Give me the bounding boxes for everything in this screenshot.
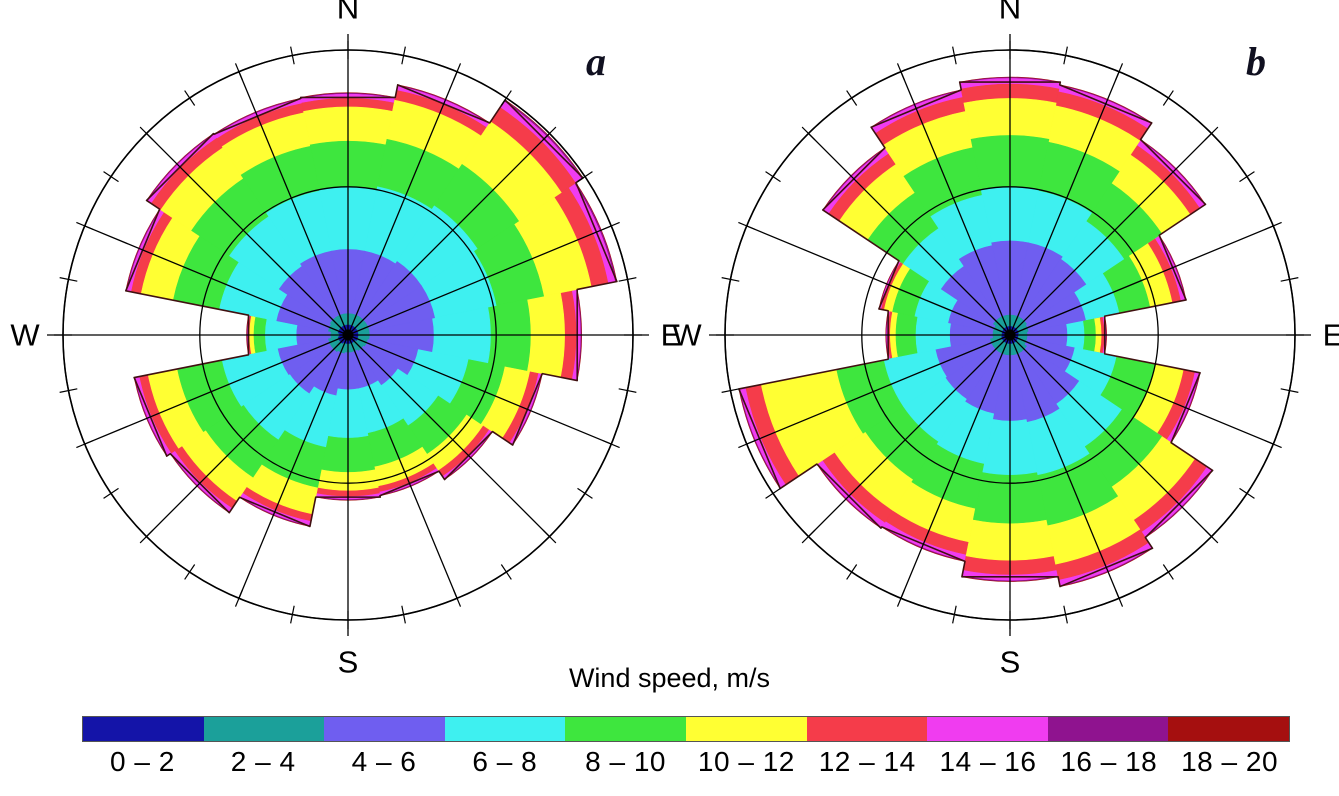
colorbar-segment-label: 8 – 10	[565, 746, 686, 780]
colorbar-segment-label: 16 – 18	[1048, 746, 1169, 780]
colorbar-swatches	[82, 716, 1290, 742]
colorbar-segment	[445, 717, 566, 741]
panel-label-b: b	[1246, 42, 1266, 82]
colorbar-segment-label: 18 – 20	[1169, 746, 1290, 780]
colorbar-segment-label: 14 – 16	[928, 746, 1049, 780]
colorbar-segment	[1168, 717, 1289, 741]
colorbar-segment	[83, 717, 204, 741]
polar-origin	[343, 330, 354, 341]
colorbar-segment-label: 0 – 2	[82, 746, 203, 780]
panel-label-a: a	[586, 42, 606, 82]
colorbar-segment-label: 6 – 8	[444, 746, 565, 780]
colorbar-segment	[1048, 717, 1169, 741]
colorbar-segment-label: 10 – 12	[686, 746, 807, 780]
colorbar-title: Wind speed, m/s	[0, 665, 1339, 692]
colorbar-tick-labels: 0 – 22 – 44 – 66 – 88 – 1010 – 1212 – 14…	[82, 746, 1290, 780]
polar-origin	[1005, 330, 1016, 341]
compass-label-north-a: N	[337, 0, 359, 24]
colorbar-segment	[686, 717, 807, 741]
colorbar-segment-label: 12 – 14	[807, 746, 928, 780]
colorbar-legend: 0 – 22 – 44 – 66 – 88 – 1010 – 1212 – 14…	[82, 716, 1290, 780]
compass-label-north-b: N	[999, 0, 1021, 24]
compass-label-west-b: W	[672, 320, 701, 351]
compass-label-east-b: E	[1323, 320, 1339, 351]
colorbar-segment	[807, 717, 928, 741]
colorbar-segment-label: 2 – 4	[203, 746, 324, 780]
colorbar-segment	[204, 717, 325, 741]
compass-label-west-a: W	[10, 320, 39, 351]
colorbar-segment	[927, 717, 1048, 741]
colorbar-segment-label: 4 – 6	[324, 746, 445, 780]
colorbar-segment	[324, 717, 445, 741]
colorbar-segment	[565, 717, 686, 741]
